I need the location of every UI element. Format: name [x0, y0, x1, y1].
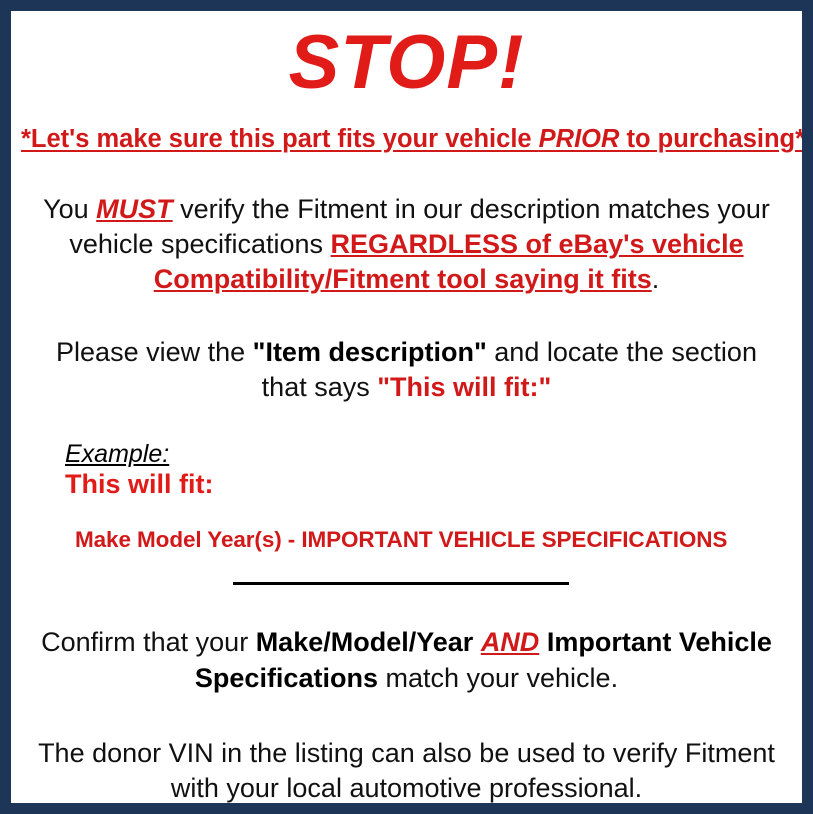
- example-spec-line: Make Model Year(s) - IMPORTANT VEHICLE S…: [65, 526, 792, 553]
- must-text-1: You: [43, 194, 96, 224]
- item-description-emphasis: "Item description": [253, 337, 487, 367]
- example-label-row: Example:: [65, 440, 792, 468]
- paragraph-confirm: Confirm that your Make/Model/Year AND Im…: [21, 625, 792, 695]
- confirm-text-2: [473, 627, 481, 657]
- divider-wrap: [21, 577, 792, 591]
- confirm-text-4: match your vehicle.: [378, 663, 618, 693]
- subtitle-banner: *Let's make sure this part fits your veh…: [21, 125, 792, 154]
- make-model-year-emphasis: Make/Model/Year: [256, 627, 474, 657]
- subtitle-emphasis-prior: PRIOR: [539, 125, 620, 153]
- example-label: Example:: [65, 440, 169, 468]
- paragraph-item-description: Please view the "Item description" and l…: [21, 335, 792, 405]
- paragraph-must-verify: You MUST verify the Fitment in our descr…: [21, 192, 792, 297]
- subtitle-text-before: *Let's make sure this part fits your veh…: [21, 125, 539, 153]
- this-will-fit-emphasis: "This will fit:": [377, 372, 551, 402]
- fitment-notice-frame: STOP! *Let's make sure this part fits yo…: [0, 0, 813, 814]
- subtitle-text-after: to purchasing*: [619, 125, 805, 153]
- page-title: STOP!: [21, 23, 792, 103]
- and-emphasis: AND: [481, 627, 540, 657]
- must-emphasis: MUST: [96, 194, 173, 224]
- view-text-1: Please view the: [56, 337, 253, 367]
- confirm-text-1: Confirm that your: [41, 627, 256, 657]
- confirm-text-3: [539, 627, 547, 657]
- must-text-3: .: [652, 264, 660, 294]
- example-fit-header: This will fit:: [65, 469, 792, 501]
- paragraph-donor-vin: The donor VIN in the listing can also be…: [21, 736, 792, 806]
- section-divider: [233, 582, 569, 585]
- notice-content: STOP! *Let's make sure this part fits yo…: [11, 23, 802, 814]
- example-block: Example: This will fit: Make Model Year(…: [21, 440, 792, 554]
